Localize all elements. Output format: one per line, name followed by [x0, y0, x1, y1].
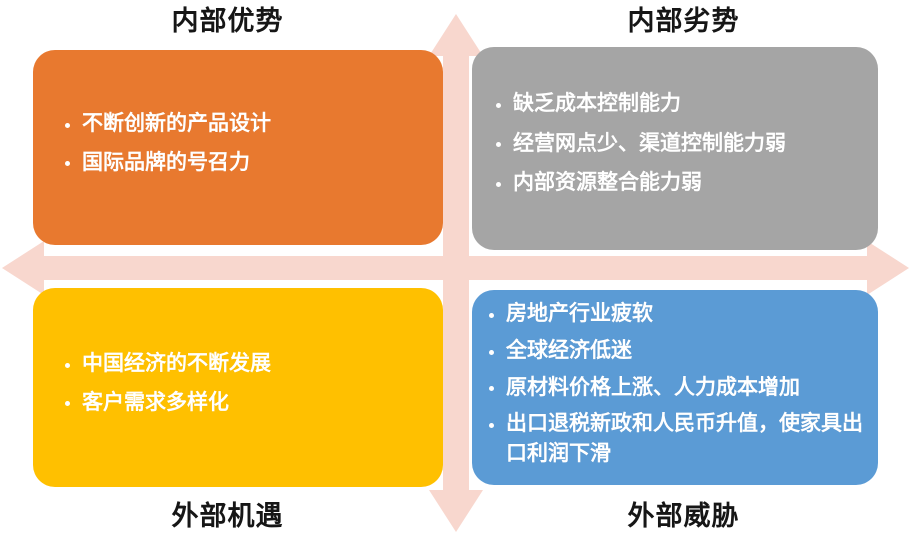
strengths-list: 不断创新的产品设计 国际品牌的号召力: [63, 109, 443, 187]
list-item: 不断创新的产品设计: [63, 109, 443, 139]
quadrant-label-weaknesses: 内部劣势: [456, 8, 911, 35]
list-item: 原材料价格上涨、人力成本增加: [484, 373, 878, 403]
list-item: 全球经济低迷: [484, 336, 878, 366]
swot-diagram: 内部优势 内部劣势 不断创新的产品设计 国际品牌的号召力 缺乏成本控制能力 经营…: [0, 0, 911, 546]
weaknesses-list: 缺乏成本控制能力 经营网点少、渠道控制能力弱 内部资源整合能力弱: [494, 89, 878, 208]
quadrant-box-weaknesses[interactable]: 缺乏成本控制能力 经营网点少、渠道控制能力弱 内部资源整合能力弱: [472, 47, 878, 250]
quadrant-label-opportunities: 外部机遇: [0, 503, 455, 530]
threats-list: 房地产行业疲软 全球经济低迷 原材料价格上涨、人力成本增加 出口退税新政和人民币…: [484, 299, 878, 476]
list-item: 内部资源整合能力弱: [494, 168, 878, 198]
quadrant-box-strengths[interactable]: 不断创新的产品设计 国际品牌的号召力: [33, 50, 443, 245]
opportunities-list: 中国经济的不断发展 客户需求多样化: [63, 349, 443, 427]
quadrant-label-threats: 外部威胁: [456, 503, 911, 530]
list-item: 经营网点少、渠道控制能力弱: [494, 129, 878, 159]
list-item: 客户需求多样化: [63, 388, 443, 418]
list-item: 缺乏成本控制能力: [494, 89, 878, 119]
quadrant-label-strengths: 内部优势: [0, 8, 455, 35]
list-item: 出口退税新政和人民币升值，使家具出口利润下滑: [484, 409, 878, 469]
list-item: 中国经济的不断发展: [63, 349, 443, 379]
quadrant-box-threats[interactable]: 房地产行业疲软 全球经济低迷 原材料价格上涨、人力成本增加 出口退税新政和人民币…: [472, 290, 878, 485]
list-item: 房地产行业疲软: [484, 299, 878, 329]
list-item: 国际品牌的号召力: [63, 148, 443, 178]
quadrant-box-opportunities[interactable]: 中国经济的不断发展 客户需求多样化: [33, 288, 443, 487]
